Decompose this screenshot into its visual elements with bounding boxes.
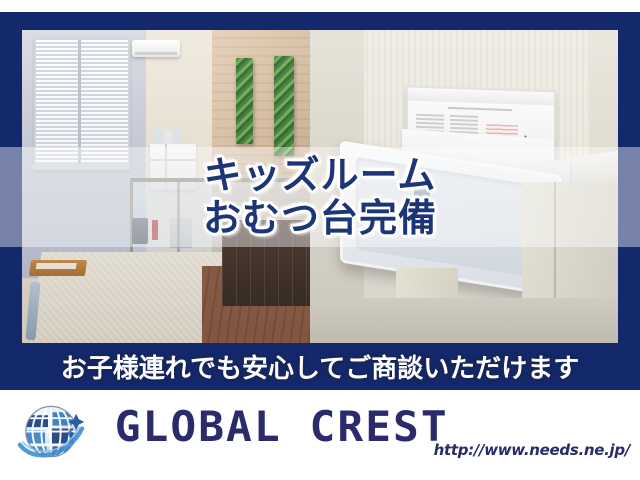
headline-line-1: キッズルーム (204, 156, 437, 196)
brand-wordmark: GLOBAL CREST (115, 402, 449, 448)
globe-icon (14, 396, 88, 470)
top-white-strip (0, 0, 640, 12)
advertisement-poster: キッズルーム おむつ台完備 お子様連れでも安心してご商談いただけます (0, 0, 640, 480)
website-url[interactable]: http://www.needs.ne.jp/ (434, 441, 630, 459)
headline-line-2: おむつ台完備 (203, 199, 437, 239)
caption-text: お子様連れでも安心してご商談いただけます (0, 344, 640, 389)
headline-block: キッズルーム おむつ台完備 (0, 145, 640, 250)
